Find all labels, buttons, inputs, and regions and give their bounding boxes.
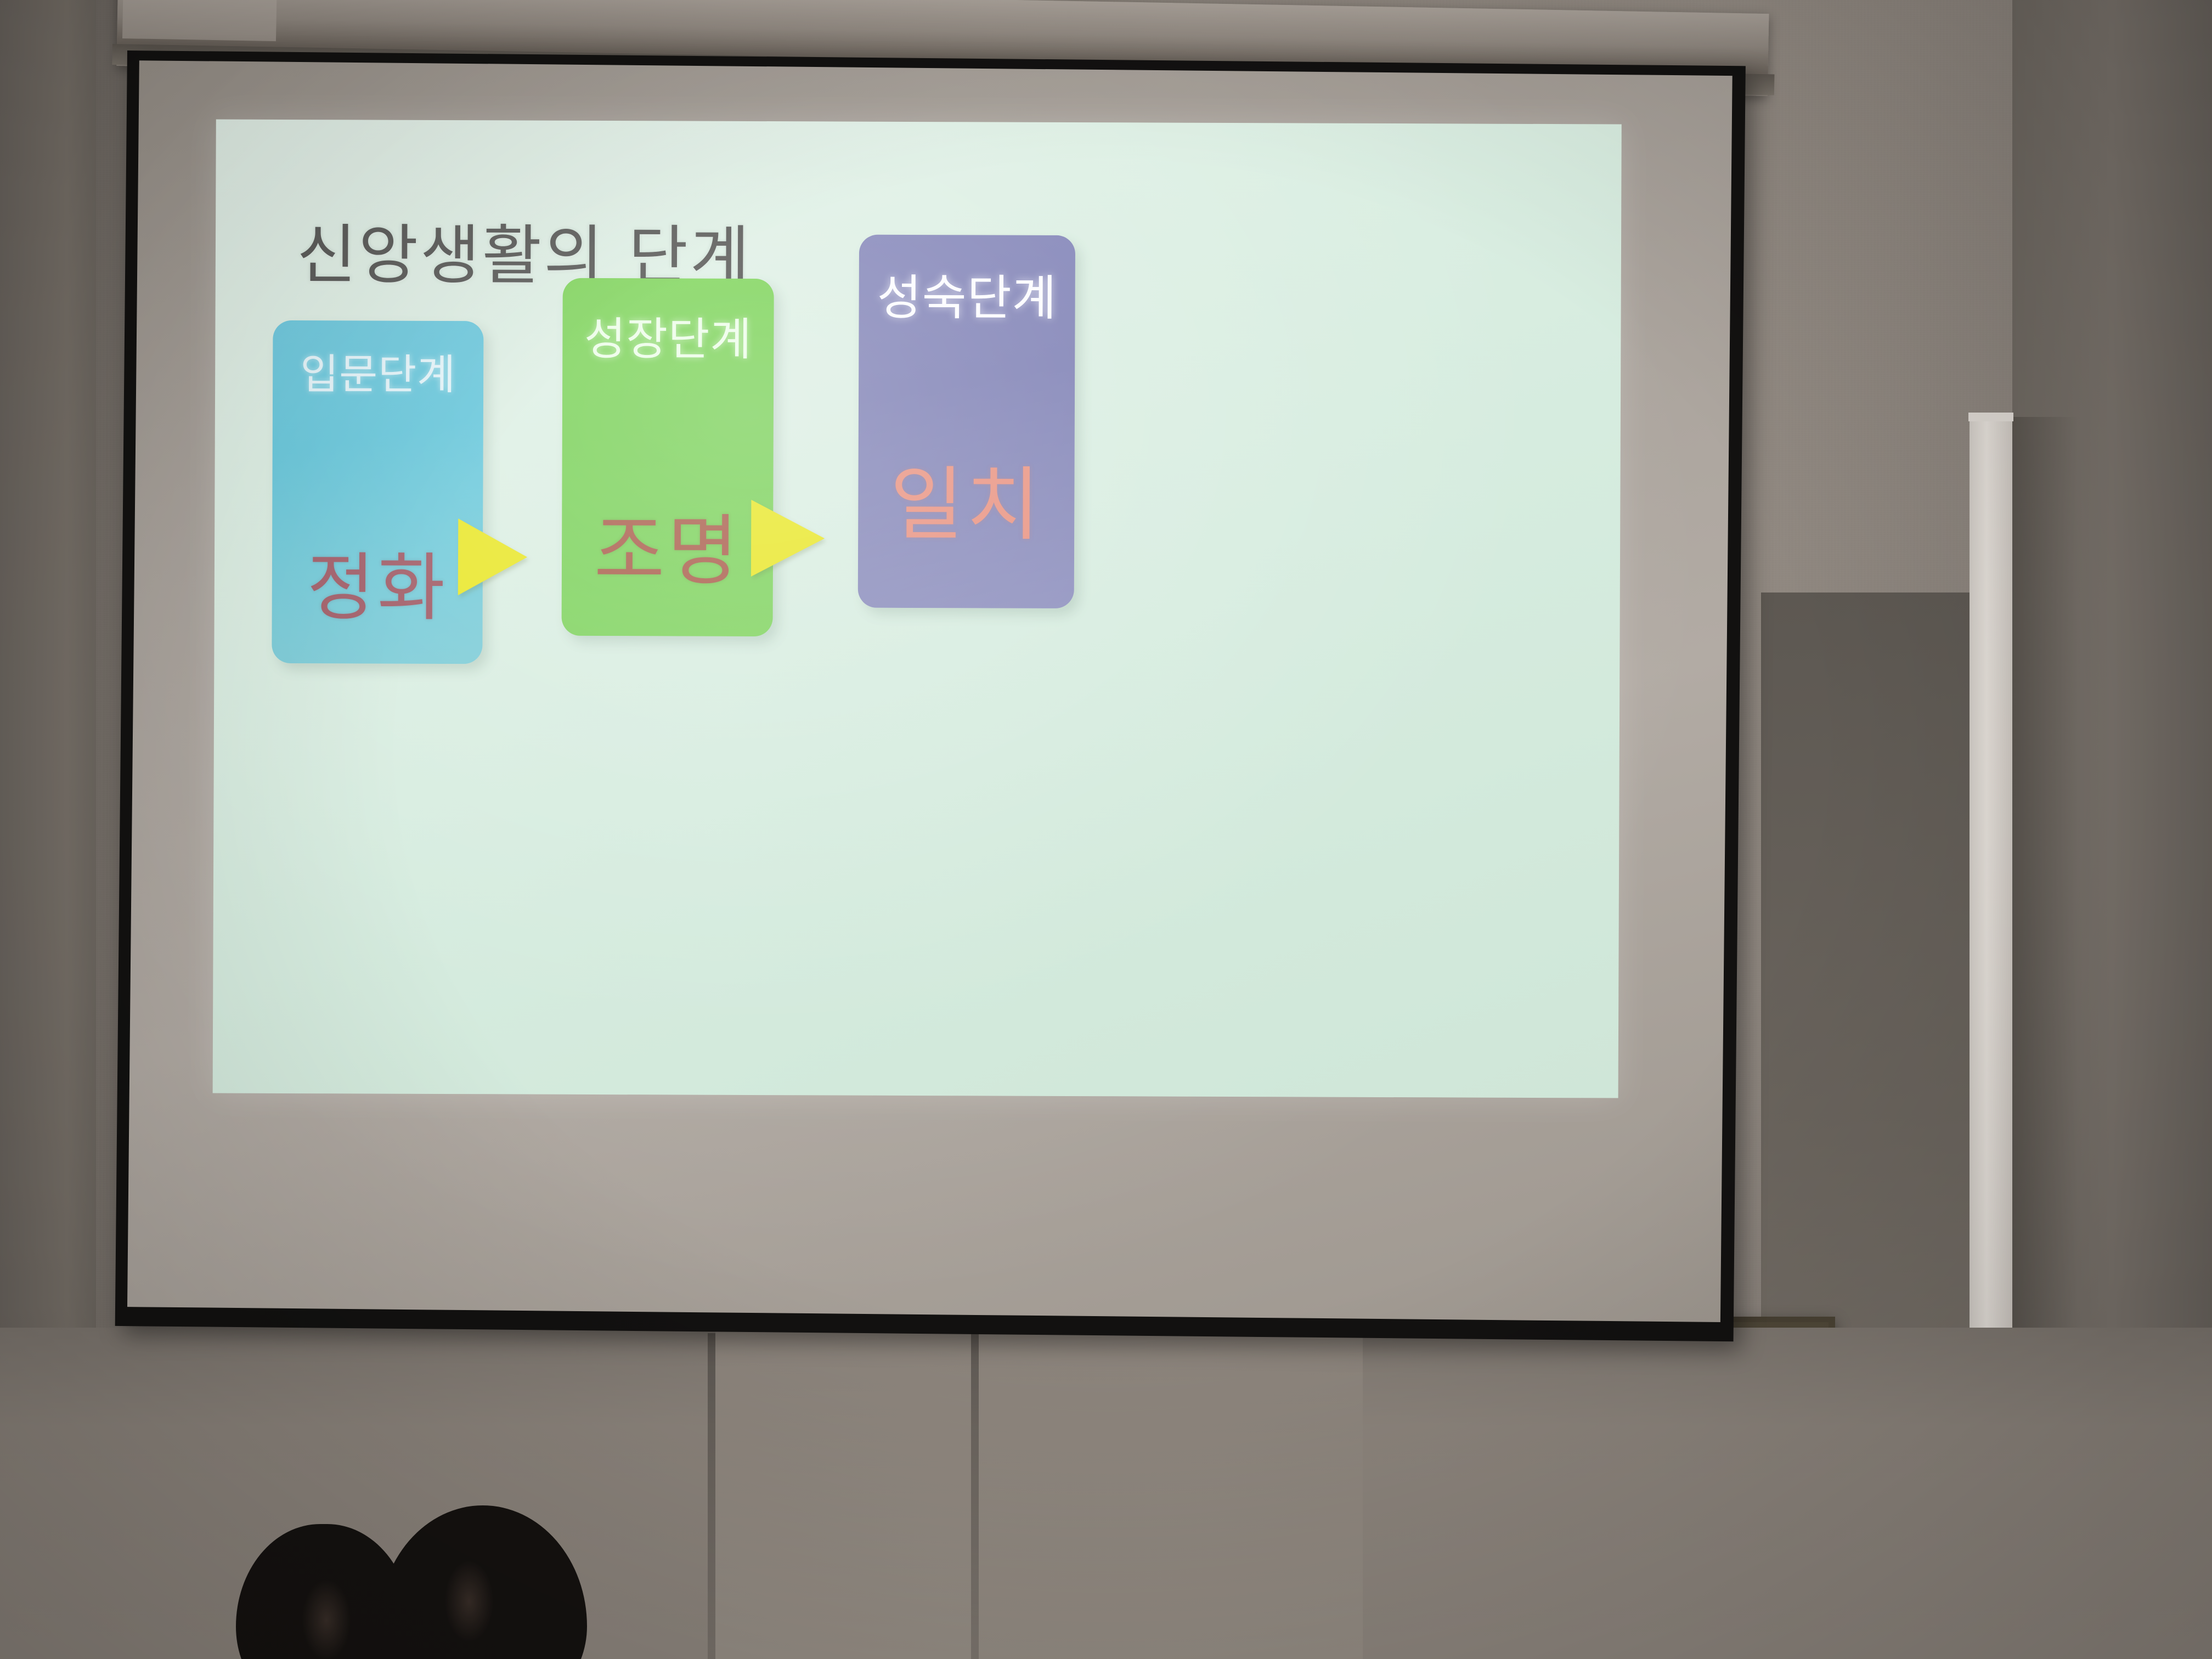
- projection-screen-frame: 신앙생활의 단계 입문단계 정화 성장단계 조명 성숙단계: [115, 50, 1746, 1341]
- stage-card-mature[interactable]: 성숙단계 일치: [858, 235, 1075, 608]
- stage-card-growth-header: 성장단계: [562, 302, 774, 368]
- stage-card-growth[interactable]: 성장단계 조명: [562, 278, 774, 636]
- stage-card-entry[interactable]: 입문단계 정화: [272, 320, 483, 664]
- arrow-right-icon-growth-to-mature: [751, 500, 825, 577]
- stage-card-growth-word: 조명: [562, 489, 774, 600]
- projection-screen-surface: 신앙생활의 단계 입문단계 정화 성장단계 조명 성숙단계: [127, 60, 1733, 1322]
- presentation-slide[interactable]: 신앙생활의 단계 입문단계 정화 성장단계 조명 성숙단계: [213, 120, 1622, 1098]
- wall-pillar-cap: [1968, 413, 2013, 421]
- projector-screen-case-end: [122, 0, 277, 41]
- audience-head-right-highlight: [444, 1560, 494, 1643]
- stage-card-mature-header: 성숙단계: [859, 259, 1075, 329]
- arrow-right-icon-entry-to-growth: [458, 518, 527, 595]
- photo-scene: 신앙생활의 단계 입문단계 정화 성장단계 조명 성숙단계: [0, 0, 2212, 1659]
- lower-wall-panel-2: [979, 1330, 1363, 1659]
- stage-card-entry-header: 입문단계: [273, 340, 483, 401]
- stage-card-entry-word: 정화: [272, 528, 483, 635]
- lower-wall-seam-2: [971, 1333, 979, 1659]
- lower-wall-panel-1: [715, 1330, 971, 1659]
- audience-head-left-highlight: [302, 1579, 351, 1659]
- stage-card-mature-word: 일치: [858, 440, 1075, 556]
- lower-wall-seam-1: [708, 1333, 715, 1659]
